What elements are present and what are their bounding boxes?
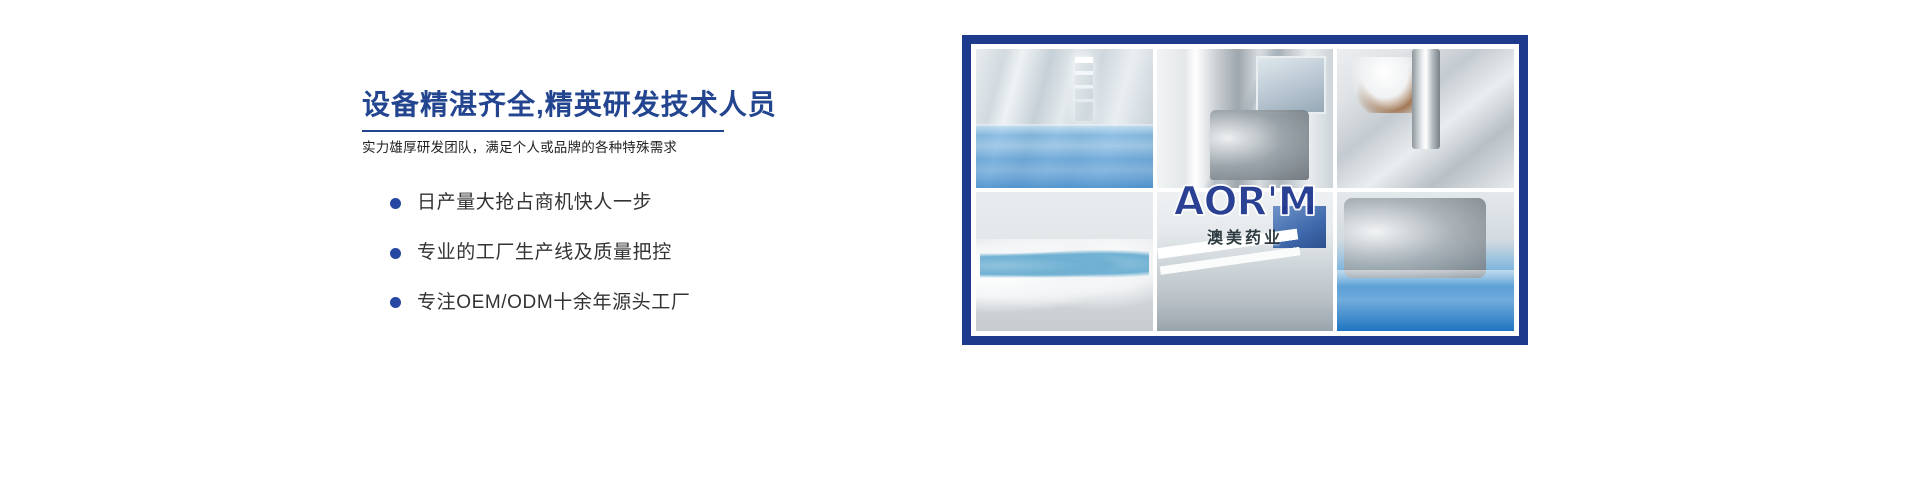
page-title: 设备精湛齐全,精英研发技术人员 xyxy=(362,88,762,121)
promo-banner: 设备精湛齐全,精英研发技术人员 实力雄厚研发团队，满足个人或品牌的各种特殊需求 … xyxy=(0,0,1920,485)
bullet-dot-icon xyxy=(390,198,401,209)
photo-technician-inspecting-equipment xyxy=(1337,49,1514,188)
list-item-label: 日产量大抢占商机快人一步 xyxy=(417,192,652,215)
list-item-label: 专注OEM/ODM十余年源头工厂 xyxy=(417,292,691,315)
title-divider xyxy=(362,130,724,132)
photo-stainless-mixing-vessels xyxy=(1337,192,1514,331)
photo-cleanroom-corridor xyxy=(976,49,1153,188)
bullet-dot-icon xyxy=(390,297,401,308)
photo-collage-frame: AOR'M 澳美药业 xyxy=(962,35,1528,345)
feature-list: 日产量大抢占商机快人一步 专业的工厂生产线及质量把控 专注OEM/ODM十余年源… xyxy=(362,192,762,314)
list-item: 专注OEM/ODM十余年源头工厂 xyxy=(362,292,762,315)
photo-technician-at-reactor-tanks xyxy=(1157,49,1334,188)
text-panel: 设备精湛齐全,精英研发技术人员 实力雄厚研发团队，满足个人或品牌的各种特殊需求 … xyxy=(362,88,762,314)
photo-grid: AOR'M 澳美药业 xyxy=(976,49,1514,331)
photo-collage-inner: AOR'M 澳美药业 xyxy=(971,44,1519,336)
list-item-label: 专业的工厂生产线及质量把控 xyxy=(417,242,672,265)
list-item: 专业的工厂生产线及质量把控 xyxy=(362,242,762,265)
photo-bottle-filling-line xyxy=(1157,192,1334,331)
subtitle: 实力雄厚研发团队，满足个人或品牌的各种特殊需求 xyxy=(362,139,762,158)
list-item: 日产量大抢占商机快人一步 xyxy=(362,192,762,215)
bullet-dot-icon xyxy=(390,248,401,259)
photo-workers-at-lab-bench xyxy=(976,192,1153,331)
